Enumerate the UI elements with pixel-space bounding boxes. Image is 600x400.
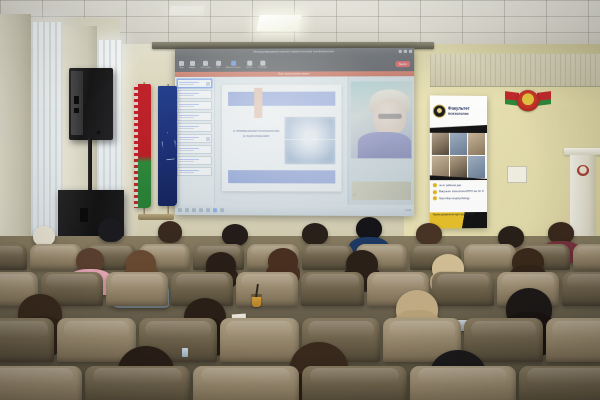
speaker-stand xyxy=(88,138,92,194)
auditorium-seat xyxy=(464,244,515,270)
toolbar-item-share-screen[interactable]: Демонстрация xyxy=(226,61,241,69)
slide-thumbnail[interactable] xyxy=(177,112,212,121)
toolbar-item-record[interactable]: Запись xyxy=(246,61,253,69)
window-controls[interactable] xyxy=(399,50,412,53)
banner-info-text: пн-пт рабочие дни xyxy=(439,184,461,187)
seat-row xyxy=(0,366,600,400)
banner-photo xyxy=(468,156,485,178)
lectern-top xyxy=(564,148,600,155)
belarus-coat-of-arms-icon xyxy=(505,90,551,114)
auditorium-seat xyxy=(85,366,191,400)
banner-photo xyxy=(450,133,467,155)
auditorium-seat xyxy=(0,318,54,362)
flag-stand-base xyxy=(138,214,174,220)
record-icon xyxy=(247,61,252,66)
banner-photo-row xyxy=(432,133,485,155)
audience-person xyxy=(33,226,55,246)
auditorium-seat xyxy=(432,272,494,306)
conference-window-title: Международная научно-практическая конфер… xyxy=(254,49,334,53)
slide-thumbnail-rail[interactable] xyxy=(175,77,215,204)
audience-person xyxy=(356,217,382,240)
air-duct-soffit xyxy=(430,54,600,87)
auditorium-seat xyxy=(546,318,600,362)
slide-thumbnail[interactable] xyxy=(177,123,212,132)
banner-photo xyxy=(450,156,467,178)
mail-icon[interactable] xyxy=(206,208,210,212)
banner-info-line: Факультет психологии БГПУ им. М. Танка xyxy=(433,190,484,194)
slide-thumbnail[interactable] xyxy=(177,79,212,88)
slide-thumbnail[interactable] xyxy=(177,167,212,176)
auditorium-seat xyxy=(301,272,363,306)
slide-stage: О ПРИМЕНЕНИИ ПСИХОЛОГИИ В ОБРАЗОВАНИИ xyxy=(215,76,348,204)
banner-photo xyxy=(432,156,449,178)
person-head xyxy=(222,224,248,246)
person-head xyxy=(158,221,182,243)
chat-icon xyxy=(216,61,221,66)
powerpoint-icon[interactable] xyxy=(213,208,217,212)
auditorium-seat xyxy=(410,366,516,400)
slide-thumbnail[interactable] xyxy=(177,156,212,165)
auditorium-seat xyxy=(30,244,81,270)
person-head xyxy=(416,223,442,245)
slide-header-band xyxy=(228,92,335,106)
audience-person xyxy=(76,248,104,273)
toolbar-item-chat[interactable]: Чат xyxy=(216,61,221,69)
wall-notice-plate xyxy=(507,166,527,183)
slide-footer-band xyxy=(228,170,335,183)
globe-icon xyxy=(433,197,437,201)
maximize-icon[interactable] xyxy=(404,50,407,53)
speaker-driver xyxy=(96,130,101,135)
toolbar-item-participants[interactable]: Участники xyxy=(200,61,210,69)
lecture-hall-photo: Международная научно-практическая конфер… xyxy=(0,0,600,400)
wall-pillar-1 xyxy=(0,14,31,264)
vent-louvers xyxy=(430,54,600,86)
presentation-slide: О ПРИМЕНЕНИИ ПСИХОЛОГИИ В ОБРАЗОВАНИИ xyxy=(222,84,341,192)
phone xyxy=(182,348,188,357)
recessed-panel-light xyxy=(256,15,301,31)
university-flag-emblem xyxy=(161,131,178,160)
person-head xyxy=(33,226,55,246)
banner-photo xyxy=(468,133,485,155)
slide-thumbnail[interactable] xyxy=(177,90,212,99)
toolbar-label: Демонстрация xyxy=(226,67,241,69)
auditorium-seat xyxy=(220,318,298,362)
audience-person xyxy=(548,222,574,244)
banner-info-text: Факультет психологии БГПУ им. М. Танка xyxy=(439,190,484,193)
flag-ornament-pattern xyxy=(134,84,138,208)
toolbar-item-audio[interactable]: Звук xyxy=(179,61,184,69)
toolbar-label: Реакции xyxy=(258,67,267,69)
pa-loudspeaker xyxy=(69,68,113,140)
slide-thumbnail[interactable] xyxy=(177,145,212,154)
minimize-icon[interactable] xyxy=(399,50,402,53)
banner-info-line: пн-пт рабочие дни xyxy=(433,183,484,187)
ribbon-right xyxy=(537,91,551,106)
conference-icon[interactable] xyxy=(220,208,224,212)
banner-photo xyxy=(432,133,449,155)
recessed-panel-light-secondary xyxy=(169,6,205,15)
faculty-emblem-icon xyxy=(433,105,446,118)
audience-person xyxy=(268,248,298,274)
flag-university xyxy=(158,86,177,206)
auditorium-seat xyxy=(0,366,82,400)
projection-screen: Международная научно-практическая конфер… xyxy=(175,48,414,216)
participants-icon xyxy=(203,61,208,66)
audience-person xyxy=(98,218,124,242)
speaker-port-lower xyxy=(74,108,79,113)
auditorium-seat xyxy=(562,272,600,306)
leave-meeting-button[interactable]: Выйти xyxy=(396,61,410,67)
toolbar-label: Запись xyxy=(246,67,253,69)
auditorium-seat xyxy=(193,366,299,400)
clock-icon xyxy=(433,184,437,188)
conference-toolbar[interactable]: Звук Видео Участники Чат Демонстрация За… xyxy=(175,57,414,72)
toolbar-label: Чат xyxy=(217,67,221,69)
auditorium-seat xyxy=(236,272,298,306)
speaker-port xyxy=(74,96,79,104)
faculty-rollup-banner: Факультет психологии пн-пт рабочие дни Ф… xyxy=(430,95,487,228)
audience-person xyxy=(302,223,328,245)
browser-icon[interactable] xyxy=(199,208,203,212)
pin-icon xyxy=(433,190,437,194)
microphone-icon xyxy=(179,61,184,66)
emblem-core xyxy=(517,90,539,112)
flag-belarus xyxy=(134,84,151,208)
participant-glasses xyxy=(378,114,403,119)
conference-content-area: О ПРИМЕНЕНИИ ПСИХОЛОГИИ В ОБРАЗОВАНИИ xyxy=(175,76,414,205)
explorer-icon[interactable] xyxy=(192,208,196,212)
participant-video-column xyxy=(348,76,414,205)
auditorium-seat xyxy=(519,366,600,400)
audience-person xyxy=(222,224,248,246)
banner-heading: Факультет психологии xyxy=(448,107,470,117)
person-head xyxy=(302,223,328,245)
camera-icon xyxy=(190,61,195,66)
toolbar-label: Участники xyxy=(200,67,210,69)
coffee-cup xyxy=(252,296,261,307)
share-screen-icon xyxy=(231,61,236,66)
toolbar-label: Видео xyxy=(189,67,195,69)
close-icon[interactable] xyxy=(409,50,412,53)
banner-photo-collage xyxy=(430,133,487,178)
auditorium-seat xyxy=(573,244,600,270)
participant-name-plate xyxy=(351,182,411,200)
banner-info-line: https://bspu.by/psychology xyxy=(433,196,484,200)
banner-info-text: https://bspu.by/psychology xyxy=(439,197,470,200)
auditorium-seat xyxy=(106,272,168,306)
taskbar-spacer xyxy=(227,210,402,211)
taskbar-clock: 14:08 xyxy=(405,210,411,212)
audience-person xyxy=(416,223,442,245)
screen-share-banner-label: Идёт демонстрация экрана xyxy=(278,72,309,76)
slide-thumbnail[interactable] xyxy=(177,134,212,143)
auditorium-seat xyxy=(302,366,408,400)
banner-info-block: пн-пт рабочие дни Факультет психологии Б… xyxy=(430,180,487,212)
reactions-icon xyxy=(260,61,265,66)
slide-accent-tab xyxy=(254,88,262,118)
slide-title: О ПРИМЕНЕНИИ ПСИХОЛОГИИ В ОБРАЗОВАНИИ xyxy=(229,129,284,137)
audience-person xyxy=(158,221,182,243)
start-icon[interactable] xyxy=(178,208,182,212)
toolbar-label: Звук xyxy=(179,67,183,69)
auditorium-seat xyxy=(0,244,27,270)
slide-title-line-2: В ОБРАЗОВАНИИ xyxy=(243,134,269,138)
slide-photo xyxy=(285,116,335,163)
toolbar-item-video[interactable]: Видео xyxy=(189,61,195,69)
banner-heading-line-2: психологии xyxy=(448,112,469,116)
windows-taskbar[interactable]: 14:08 xyxy=(175,204,414,216)
person-head xyxy=(98,218,124,242)
participant-torso xyxy=(358,132,411,158)
banner-footer-text: Приём документов идёт круглый год xyxy=(433,213,474,216)
banner-heading-line-1: Факультет xyxy=(448,106,470,111)
subwoofer-handle xyxy=(80,208,88,222)
banner-header: Факультет психологии xyxy=(430,95,487,127)
state-emblem-icon xyxy=(577,165,589,176)
toolbar-item-reactions[interactable]: Реакции xyxy=(258,61,267,69)
slide-thumbnail[interactable] xyxy=(177,101,212,110)
search-icon[interactable] xyxy=(185,208,189,212)
banner-photo-row xyxy=(432,156,485,178)
participant-video-tile[interactable] xyxy=(351,81,412,158)
